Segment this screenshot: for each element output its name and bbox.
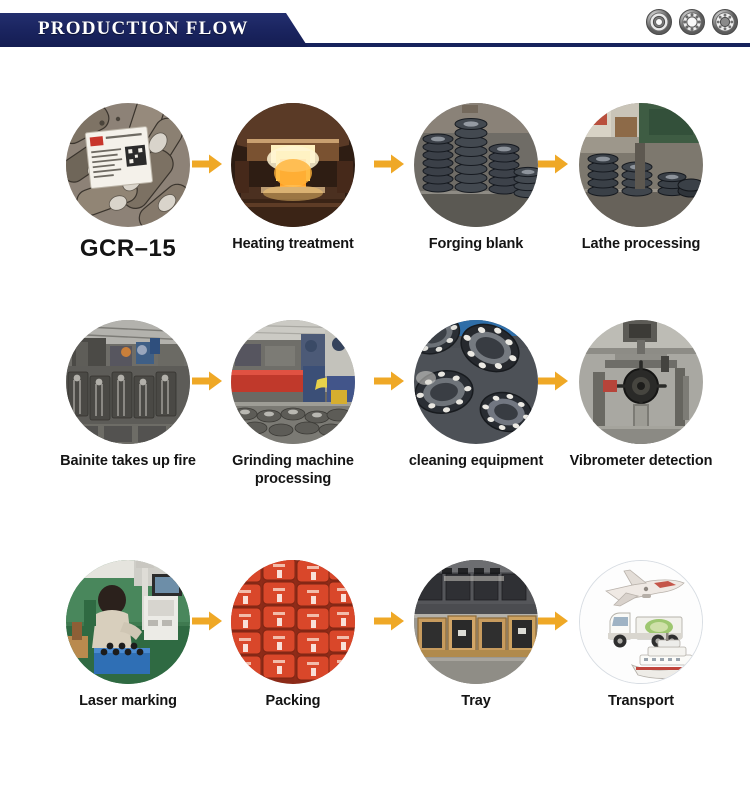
step-label: Grinding machine processing (213, 453, 373, 489)
packed-boxes-photo (231, 560, 355, 684)
step-image-wrap (66, 320, 190, 444)
step-label: Transport (561, 693, 721, 711)
step-image-wrap (414, 560, 538, 684)
bearing-icon (646, 9, 672, 35)
furnace-photo (231, 103, 355, 227)
flow-step-bainite[interactable]: Bainite takes up fire (48, 320, 208, 471)
step-image-wrap (414, 103, 538, 227)
grinding-machine-photo (231, 320, 355, 444)
brand-logo (646, 9, 738, 35)
flow-step-forging-blank[interactable]: Forging blank (396, 103, 556, 254)
step-label: Bainite takes up fire (48, 453, 208, 471)
production-flow-page: PRODUCTION FLOW (0, 0, 750, 800)
bearing-cleaning-photo (414, 320, 538, 444)
flow-step-cleaning-equipment[interactable]: cleaning equipment (396, 320, 556, 471)
step-image-wrap (414, 320, 538, 444)
step-image-wrap (579, 560, 703, 684)
transport-modes-photo (579, 560, 703, 684)
step-label: Forging blank (396, 236, 556, 254)
flow-step-tray[interactable]: Tray (396, 560, 556, 711)
bearing-icon (712, 9, 738, 35)
step-label: Lathe processing (561, 236, 721, 254)
step-image-wrap (66, 560, 190, 684)
step-label: Packing (213, 693, 373, 711)
flow-step-packing[interactable]: Packing (213, 560, 373, 711)
step-image-wrap (231, 103, 355, 227)
wooden-pallets-photo (414, 560, 538, 684)
page-header: PRODUCTION FLOW (0, 0, 750, 60)
flow-step-laser-marking[interactable]: Laser marking (48, 560, 208, 711)
flow-step-transport[interactable]: Transport (561, 560, 721, 711)
lathe-shop-photo (579, 103, 703, 227)
step-label: GCR–15 (48, 234, 208, 264)
flow-step-heating-treatment[interactable]: Heating treatment (213, 103, 373, 254)
bearing-icon (679, 9, 705, 35)
vibrometer-photo (579, 320, 703, 444)
step-image-wrap (579, 320, 703, 444)
step-image-wrap (231, 320, 355, 444)
steel-bars-photo (66, 103, 190, 227)
flow-step-grinding-machine[interactable]: Grinding machine processing (213, 320, 373, 489)
step-label: Vibrometer detection (561, 453, 721, 471)
step-label: Heating treatment (213, 236, 373, 254)
step-label: Laser marking (48, 693, 208, 711)
laser-marking-photo (66, 560, 190, 684)
heat-treat-line-photo (66, 320, 190, 444)
page-title: PRODUCTION FLOW (38, 18, 249, 40)
step-image-wrap (66, 103, 190, 227)
forged-rings-photo (414, 103, 538, 227)
step-label: cleaning equipment (396, 453, 556, 471)
flow-step-lathe-processing[interactable]: Lathe processing (561, 103, 721, 254)
step-image-wrap (579, 103, 703, 227)
step-label: Tray (396, 693, 556, 711)
step-image-wrap (231, 560, 355, 684)
flow-step-vibrometer-detection[interactable]: Vibrometer detection (561, 320, 721, 471)
flow-step-gcr15[interactable]: GCR–15 (48, 103, 208, 264)
